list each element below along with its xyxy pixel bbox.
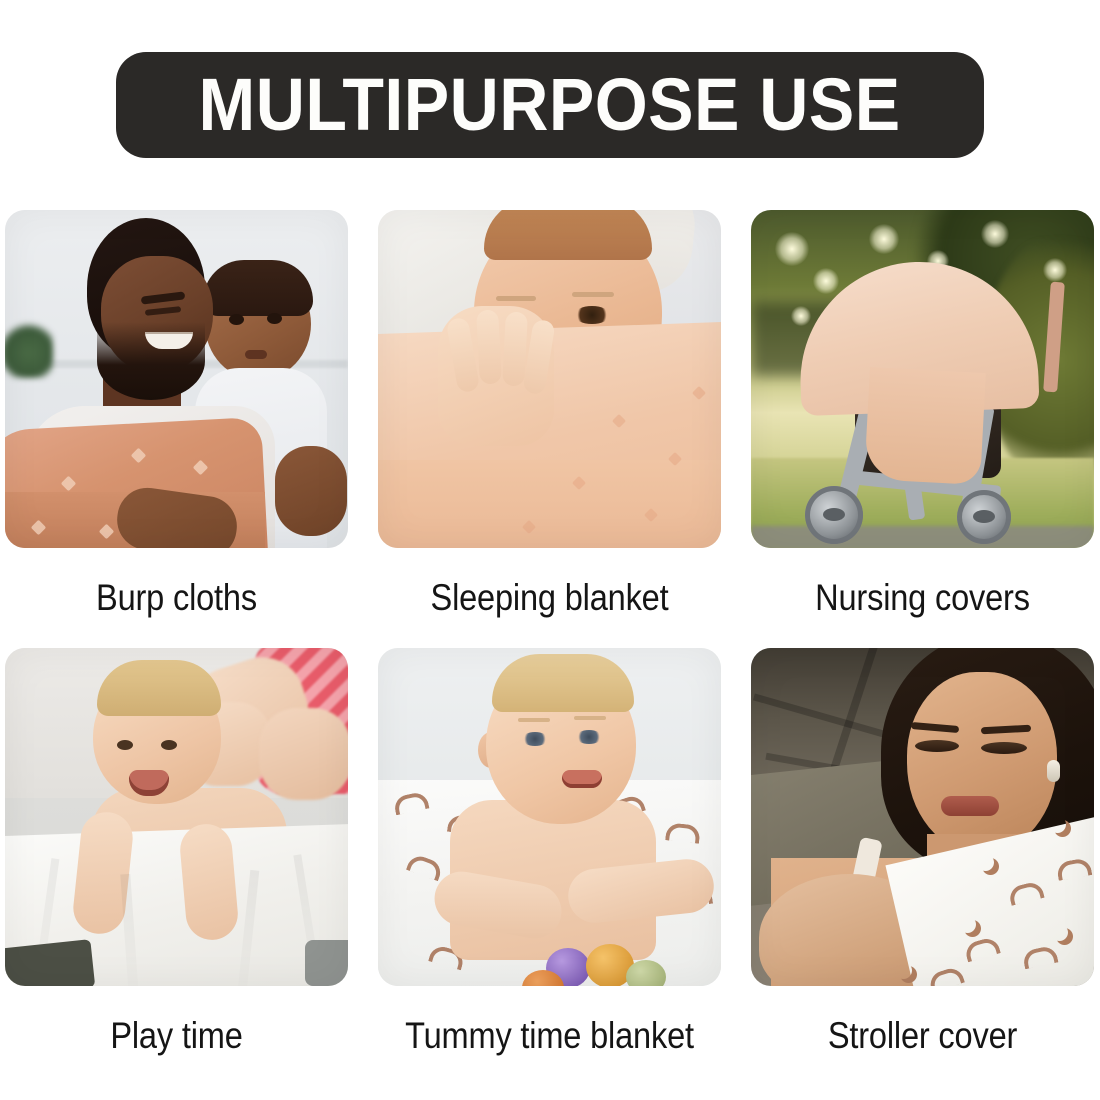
use-case-label-sleeping-blanket: Sleeping blanket (399, 548, 701, 648)
page-title: MULTIPURPOSE USE (199, 68, 901, 142)
use-case-cell-nursing-covers: Nursing covers (751, 210, 1094, 648)
use-case-image-sleeping-blanket (378, 210, 721, 548)
use-case-label-play-time: Play time (26, 986, 328, 1086)
use-case-cell-burp-cloths: Burp cloths (5, 210, 348, 648)
use-case-image-tummy-time-blanket (378, 648, 721, 986)
use-case-cell-sleeping-blanket: Sleeping blanket (378, 210, 721, 648)
header-banner-wrapper: MULTIPURPOSE USE (0, 52, 1100, 158)
header-banner: MULTIPURPOSE USE (116, 52, 984, 158)
use-case-image-play-time (5, 648, 348, 986)
use-case-label-stroller-cover: Stroller cover (772, 986, 1074, 1086)
use-case-cell-tummy-time-blanket: Tummy time blanket (378, 648, 721, 1086)
use-case-image-burp-cloths (5, 210, 348, 548)
use-case-label-nursing-covers: Nursing covers (772, 548, 1074, 648)
use-case-cell-play-time: Play time (5, 648, 348, 1086)
use-case-image-nursing-covers (751, 210, 1094, 548)
use-case-label-burp-cloths: Burp cloths (26, 548, 328, 648)
use-case-grid: Burp cloths (5, 210, 1095, 1086)
use-case-label-tummy-time-blanket: Tummy time blanket (399, 986, 701, 1086)
use-case-cell-stroller-cover: Stroller cover (751, 648, 1094, 1086)
use-case-image-stroller-cover (751, 648, 1094, 986)
